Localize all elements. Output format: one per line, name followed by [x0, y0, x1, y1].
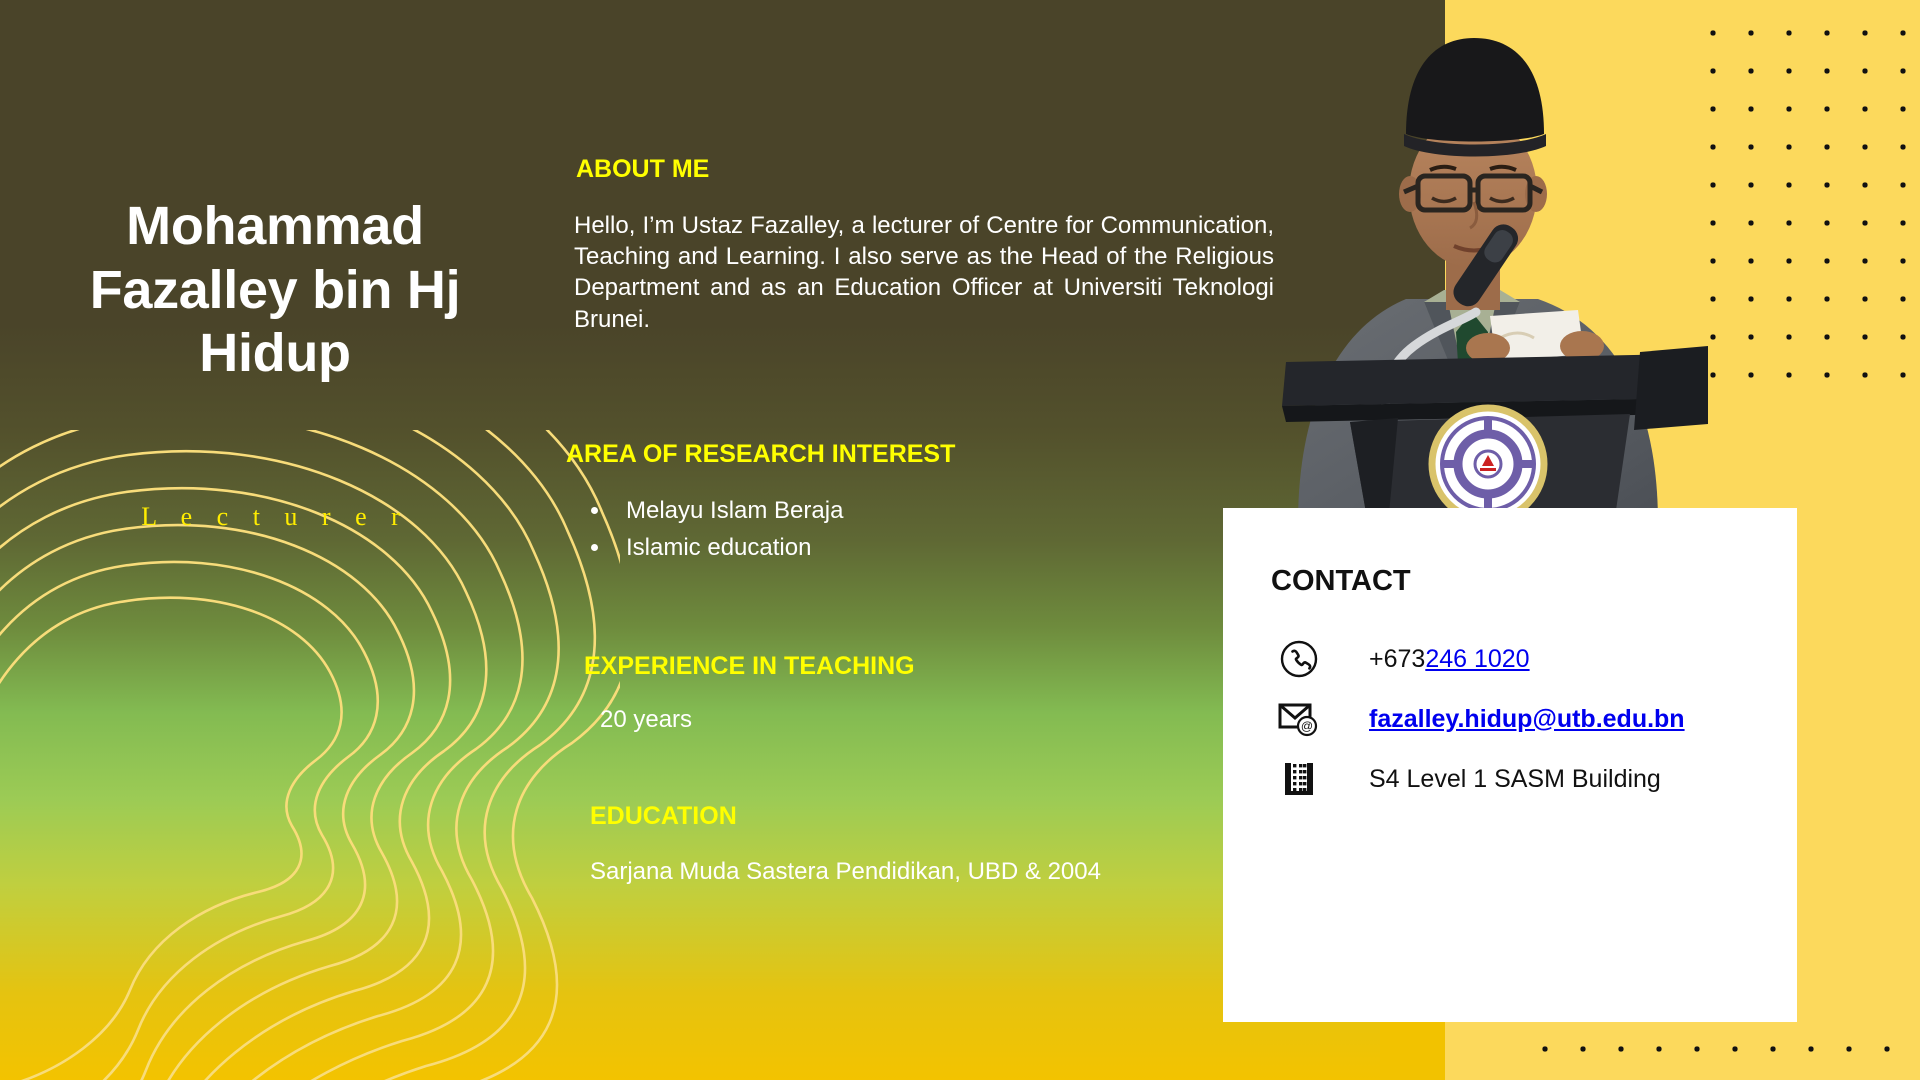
yellow-accent-nub [1380, 1022, 1446, 1080]
about-me-heading: ABOUT ME [576, 155, 709, 184]
research-interest-list: Melayu Islam Beraja Islamic education [576, 495, 1176, 569]
list-item: Melayu Islam Beraja [612, 495, 1176, 526]
building-icon [1271, 759, 1327, 799]
dot-pattern-bottom [1520, 1022, 1920, 1080]
phone-circle-icon [1271, 639, 1327, 679]
about-me-body: Hello, I’m Ustaz Fazalley, a lecturer of… [574, 210, 1274, 335]
email-link[interactable]: fazalley.hidup@utb.edu.bn [1369, 705, 1685, 733]
contact-card: CONTACT +673246 1020 @ [1223, 508, 1797, 1022]
contact-title: CONTACT [1271, 565, 1411, 598]
contact-address-text: S4 Level 1 SASM Building [1369, 765, 1661, 794]
experience-heading: EXPERIENCE IN TEACHING [584, 652, 915, 681]
contact-phone-text[interactable]: +673246 1020 [1369, 645, 1530, 674]
phone-number-link[interactable]: 246 1020 [1425, 645, 1529, 673]
education-heading: EDUCATION [590, 802, 737, 831]
experience-body: 20 years [600, 706, 692, 734]
phone-prefix: +673 [1369, 645, 1425, 673]
research-interest-heading: AREA OF RESEARCH INTEREST [566, 440, 955, 469]
contact-row-address: S4 Level 1 SASM Building [1271, 750, 1781, 808]
education-body: Sarjana Muda Sastera Pendidikan, UBD & 2… [590, 858, 1101, 886]
content-column: ABOUT ME Hello, I’m Ustaz Fazalley, a le… [0, 0, 1300, 1080]
contact-row-email: @ fazalley.hidup@utb.edu.bn [1271, 690, 1781, 748]
dot-pattern-top [1690, 10, 1920, 380]
slide-canvas: Mohammad Fazalley bin Hj Hidup L e c t u… [0, 0, 1920, 1080]
speaker-photo [1238, 0, 1708, 524]
svg-text:@: @ [1301, 719, 1313, 733]
list-item: Islamic education [612, 532, 1176, 563]
contact-row-phone: +673246 1020 [1271, 630, 1781, 688]
contact-email-text[interactable]: fazalley.hidup@utb.edu.bn [1369, 705, 1685, 734]
envelope-at-icon: @ [1271, 700, 1327, 738]
contact-rows: +673246 1020 @ fazalley.hidup@utb.edu.bn [1271, 630, 1781, 810]
